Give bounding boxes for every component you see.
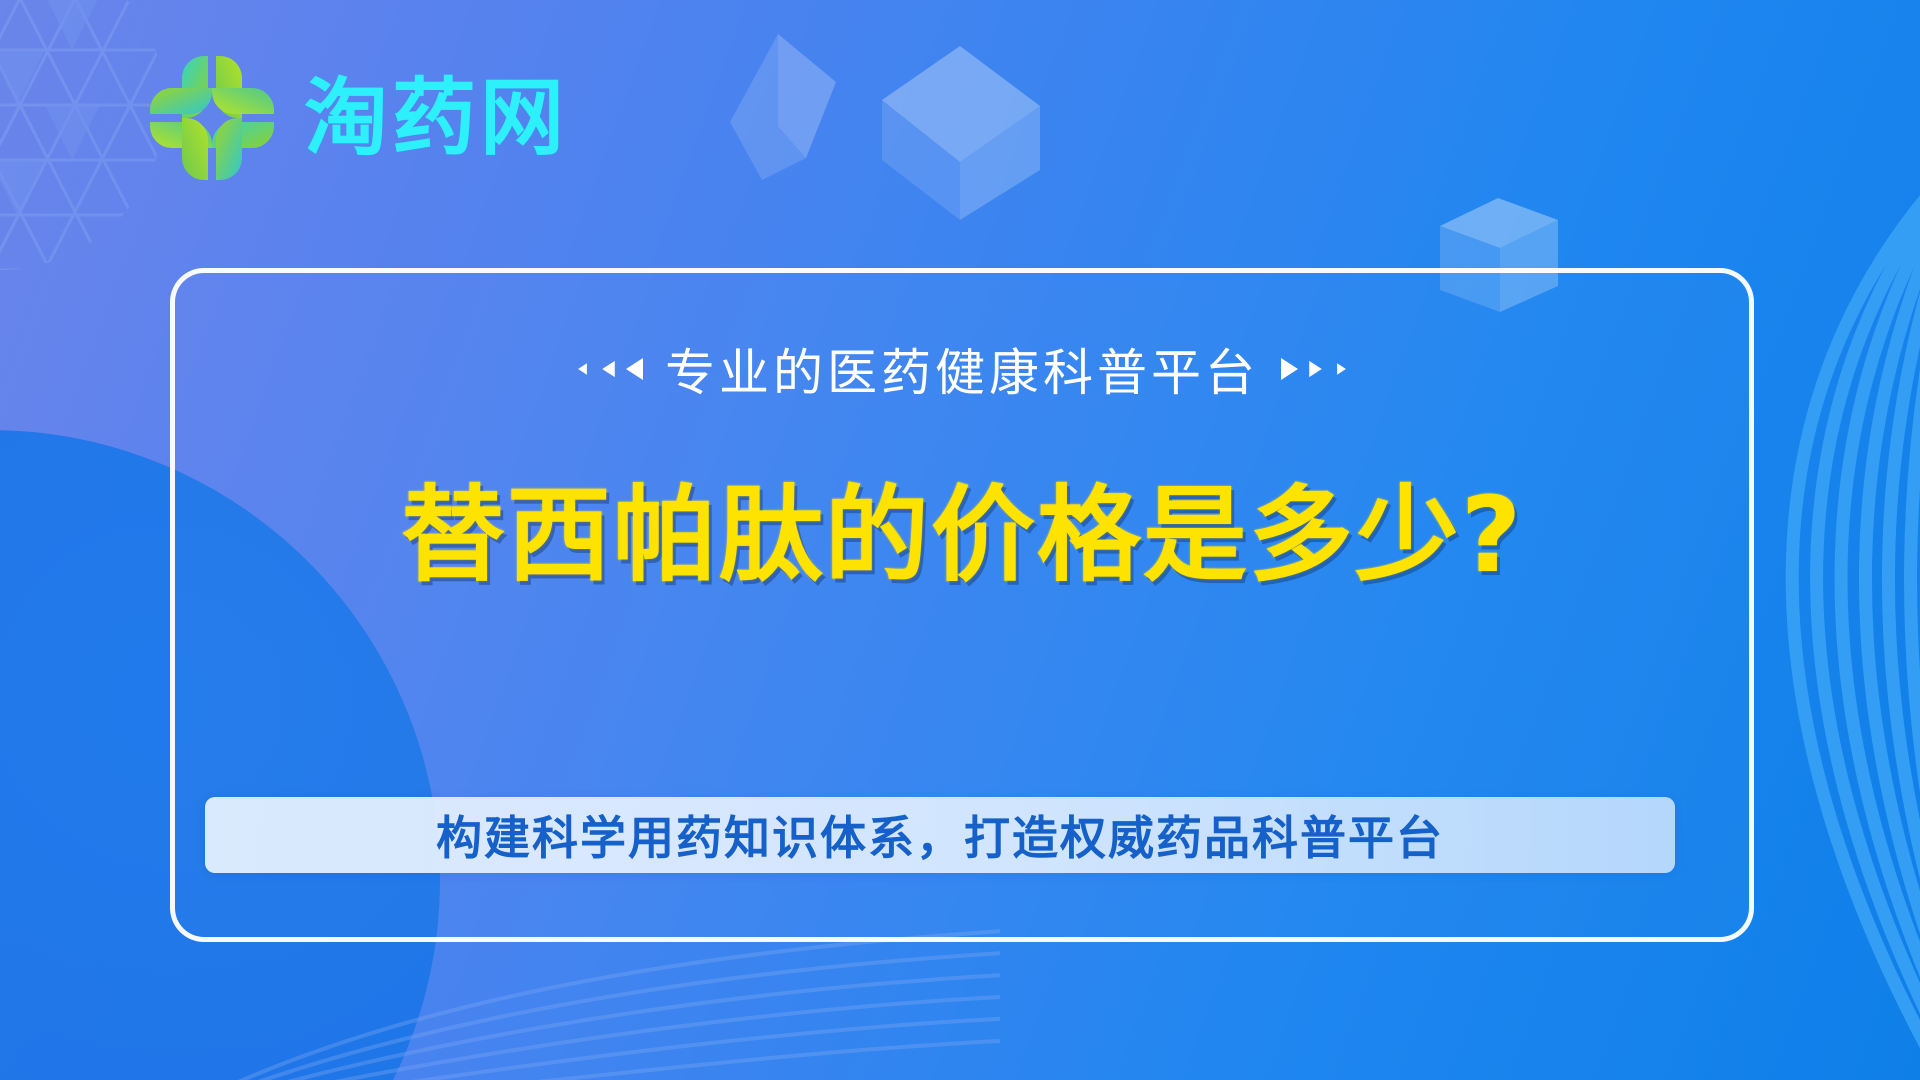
brand-logo-block[interactable]: 淘药网 bbox=[146, 52, 568, 184]
main-content-card: 专业的医药健康科普平台 替西帕肽的价格是多少? 构建科学用药知识体系，打造权威药… bbox=[170, 268, 1754, 942]
diamond-shard-icon bbox=[710, 30, 850, 190]
tagline-bar: 构建科学用药知识体系，打造权威药品科普平台 bbox=[205, 797, 1675, 873]
triangle-right-arrows-icon bbox=[1281, 358, 1350, 380]
eyebrow-row: 专业的医药健康科普平台 bbox=[175, 333, 1749, 405]
tagline-text: 构建科学用药知识体系，打造权威药品科普平台 bbox=[436, 802, 1444, 868]
brand-name: 淘药网 bbox=[304, 76, 568, 160]
page-title: 替西帕肽的价格是多少? bbox=[175, 478, 1749, 592]
poster-canvas: 淘药网 专业的医药健康科普平台 替西帕肽的价格是多少? 构建科学用药知识体系，打… bbox=[0, 0, 1920, 1080]
isometric-cube-icon bbox=[860, 20, 1060, 220]
eyebrow-text: 专业的医药健康科普平台 bbox=[665, 333, 1259, 405]
medical-cross-leaf-logo-icon bbox=[146, 52, 278, 184]
triangle-left-arrows-icon bbox=[574, 358, 643, 380]
